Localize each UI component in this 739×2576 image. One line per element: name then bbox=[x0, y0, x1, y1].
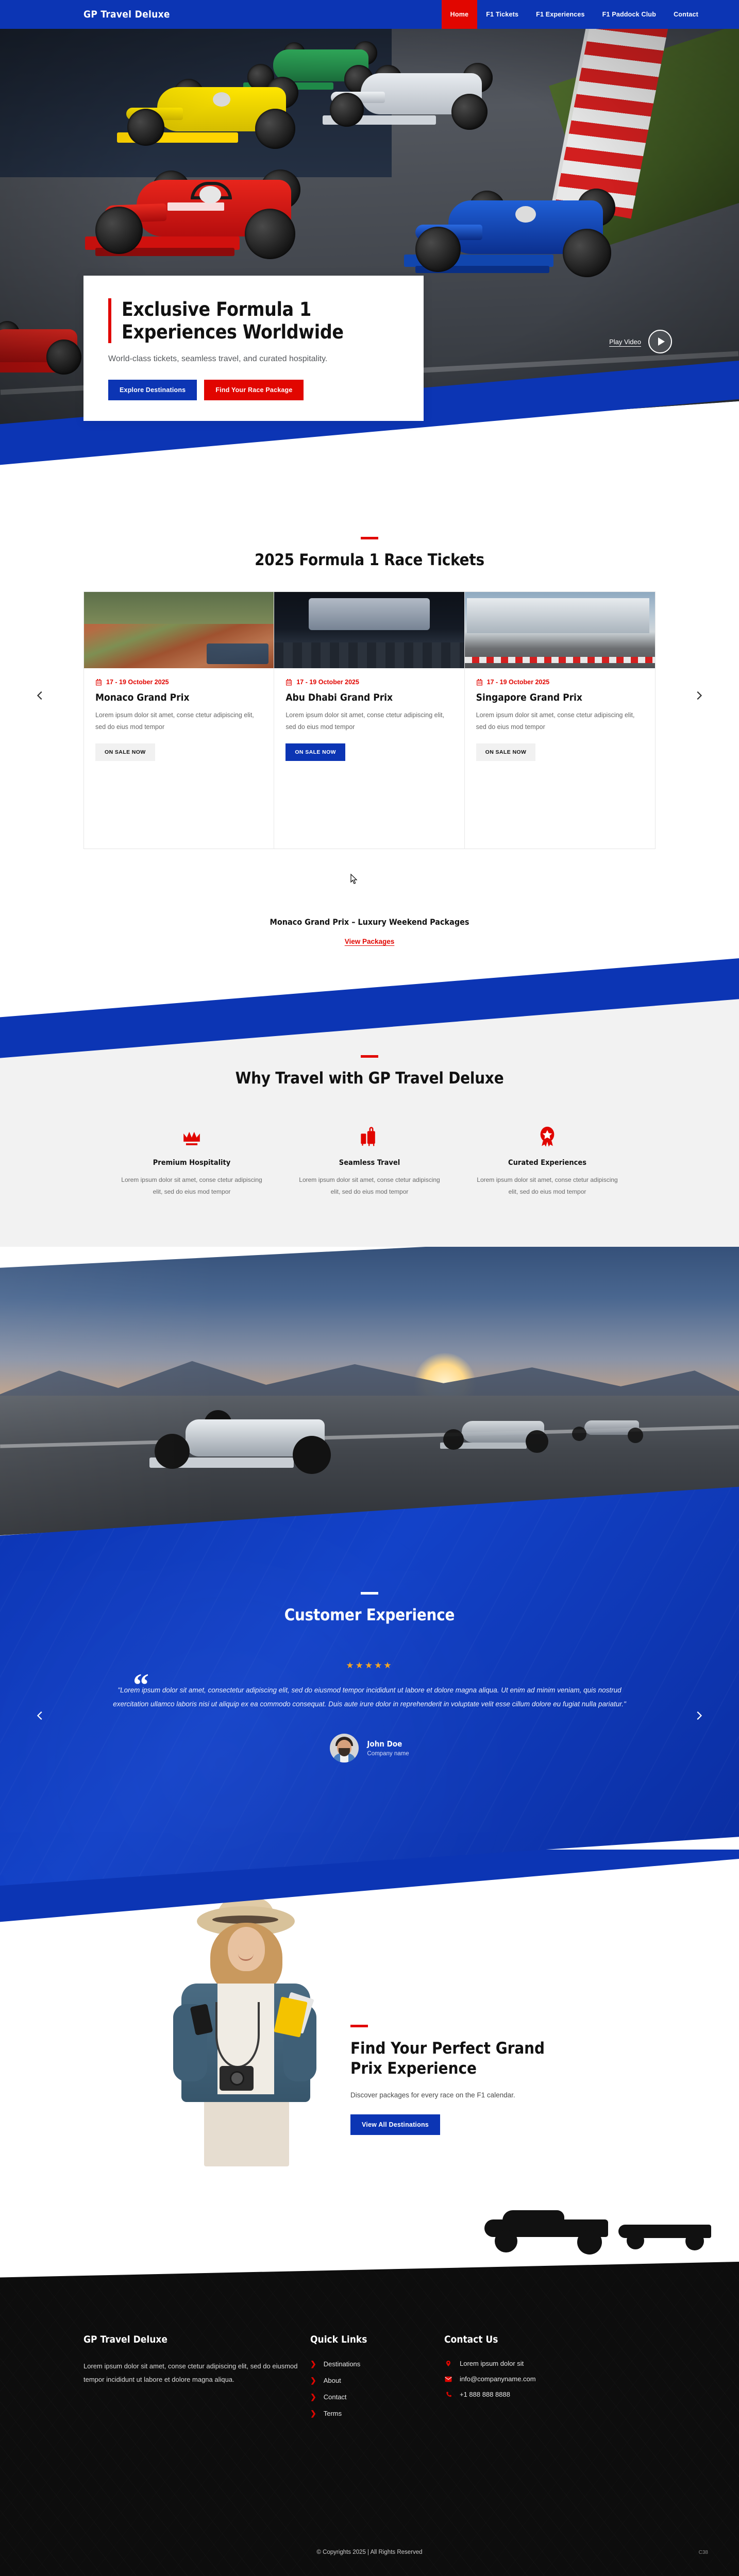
card-image-abu-dhabi bbox=[274, 592, 464, 668]
find-title-line2: Prix Experience bbox=[350, 2059, 477, 2078]
footer-contact-address: Lorem ipsum dolor sit bbox=[444, 2360, 650, 2367]
feature-description: Lorem ipsum dolor sit amet, conse ctetur… bbox=[295, 1174, 444, 1198]
packages-headline: Monaco Grand Prix – Luxury Weekend Packa… bbox=[0, 917, 739, 927]
chevron-right-icon: ❯ bbox=[310, 2393, 316, 2401]
play-video-label: Play Video bbox=[609, 338, 641, 346]
on-sale-now-button[interactable]: ON SALE NOW bbox=[95, 743, 155, 761]
tickets-section-title: 2025 Formula 1 Race Tickets bbox=[0, 551, 739, 569]
find-description: Discover packages for every race on the … bbox=[350, 2089, 598, 2102]
feature-description: Lorem ipsum dolor sit amet, conse ctetur… bbox=[473, 1174, 622, 1198]
calendar-icon bbox=[285, 679, 292, 686]
footer-about-column: GP Travel Deluxe Lorem ipsum dolor sit a… bbox=[83, 2334, 310, 2426]
section-divider-dash bbox=[361, 1055, 378, 1058]
author-name: John Doe bbox=[367, 1739, 409, 1749]
find-section-title: Find Your Perfect Grand Prix Experience bbox=[350, 2039, 598, 2079]
calendar-icon bbox=[476, 679, 483, 686]
calendar-icon bbox=[95, 679, 102, 686]
testimonial-section-title: Customer Experience bbox=[0, 1606, 739, 1624]
play-triangle-icon bbox=[648, 330, 672, 353]
footer-contact-phone[interactable]: +1 888 888 8888 bbox=[444, 2391, 650, 2398]
card-body: 17 - 19 October 2025 Singapore Grand Pri… bbox=[465, 668, 655, 773]
card-description: Lorem ipsum dolor sit amet, conse ctetur… bbox=[95, 709, 262, 733]
testimonial-text: "Lorem ipsum dolor sit amet, consectetur… bbox=[112, 1683, 627, 1711]
race-card[interactable]: 17 - 19 October 2025 Monaco Grand Prix L… bbox=[84, 592, 274, 849]
page-root: GP Travel Deluxe Home F1 Tickets F1 Expe… bbox=[0, 0, 739, 2576]
section-divider-dash bbox=[361, 537, 378, 539]
site-footer: GP Travel Deluxe Lorem ipsum dolor sit a… bbox=[0, 2262, 739, 2576]
chevron-right-icon bbox=[693, 690, 704, 701]
author-role: Company name bbox=[367, 1751, 409, 1757]
footer-columns: GP Travel Deluxe Lorem ipsum dolor sit a… bbox=[83, 2334, 656, 2426]
section-divider-dash bbox=[350, 2025, 368, 2027]
feature-title: Seamless Travel bbox=[295, 1159, 444, 1167]
motion-blur-overlay bbox=[0, 1231, 739, 1535]
nav-item-f1-tickets[interactable]: F1 Tickets bbox=[477, 0, 527, 29]
race-card[interactable]: 17 - 19 October 2025 Abu Dhabi Grand Pri… bbox=[274, 592, 464, 849]
envelope-icon bbox=[444, 2376, 452, 2382]
luggage-icon bbox=[295, 1120, 444, 1147]
card-title: Abu Dhabi Grand Prix bbox=[285, 692, 452, 703]
card-date-row: 17 - 19 October 2025 bbox=[476, 679, 644, 686]
carousel-prev-button[interactable] bbox=[30, 685, 51, 706]
view-all-destinations-button[interactable]: View All Destinations bbox=[350, 2114, 440, 2135]
chevron-right-icon bbox=[693, 1710, 704, 1721]
footer-link-contact[interactable]: ❯ Contact bbox=[310, 2393, 444, 2401]
footer-contact-text: +1 888 888 8888 bbox=[460, 2391, 510, 2398]
find-race-package-button[interactable]: Find Your Race Package bbox=[204, 380, 304, 400]
feature-item: Curated Experiences Lorem ipsum dolor si… bbox=[459, 1120, 636, 1198]
avatar bbox=[330, 1734, 359, 1762]
footer-code: C38 bbox=[699, 2550, 708, 2555]
race-cards-carousel: 17 - 19 October 2025 Monaco Grand Prix L… bbox=[83, 591, 656, 849]
on-sale-now-button[interactable]: ON SALE NOW bbox=[285, 743, 345, 761]
footer-contact-email[interactable]: info@companyname.com bbox=[444, 2375, 650, 2383]
hero-content-card: Exclusive Formula 1 Experiences Worldwid… bbox=[83, 276, 424, 421]
mouse-cursor bbox=[348, 873, 359, 887]
features-row: Premium Hospitality Lorem ipsum dolor si… bbox=[0, 1120, 739, 1198]
footer-link-label: Contact bbox=[324, 2393, 347, 2401]
rating-stars: ★★★★★ bbox=[0, 1660, 739, 1671]
site-header: GP Travel Deluxe Home F1 Tickets F1 Expe… bbox=[0, 0, 739, 29]
brand-logo[interactable]: GP Travel Deluxe bbox=[83, 9, 170, 20]
award-badge-icon bbox=[473, 1120, 622, 1147]
card-image-monaco bbox=[84, 592, 274, 668]
hero-title: Exclusive Formula 1 Experiences Worldwid… bbox=[108, 298, 399, 343]
card-date-row: 17 - 19 October 2025 bbox=[285, 679, 452, 686]
play-video-button[interactable]: Play Video bbox=[609, 330, 672, 353]
explore-destinations-button[interactable]: Explore Destinations bbox=[108, 380, 197, 400]
card-body: 17 - 19 October 2025 Monaco Grand Prix L… bbox=[84, 668, 274, 773]
carousel-next-button[interactable] bbox=[688, 685, 709, 706]
quote-mark-icon: “ bbox=[133, 1669, 149, 1701]
nav-item-contact[interactable]: Contact bbox=[665, 0, 707, 29]
main-navigation: Home F1 Tickets F1 Experiences F1 Paddoc… bbox=[442, 0, 707, 29]
hero-button-group: Explore Destinations Find Your Race Pack… bbox=[108, 380, 399, 400]
hero-title-line1: Exclusive Formula 1 bbox=[122, 298, 311, 320]
feature-title: Curated Experiences bbox=[473, 1159, 622, 1167]
chevron-right-icon: ❯ bbox=[310, 2409, 316, 2418]
nav-item-f1-paddock-club[interactable]: F1 Paddock Club bbox=[594, 0, 665, 29]
race-card[interactable]: 17 - 19 October 2025 Singapore Grand Pri… bbox=[465, 592, 655, 849]
feature-item: Premium Hospitality Lorem ipsum dolor si… bbox=[103, 1120, 281, 1198]
sunset-race-image bbox=[0, 1231, 739, 1535]
hero-subtitle: World-class tickets, seamless travel, an… bbox=[108, 352, 399, 366]
footer-link-label: Destinations bbox=[324, 2360, 361, 2368]
feature-title: Premium Hospitality bbox=[117, 1159, 266, 1167]
map-pin-icon bbox=[444, 2360, 452, 2367]
section-divider-dash bbox=[361, 1592, 378, 1595]
footer-contact-column: Contact Us Lorem ipsum dolor sit info@co… bbox=[444, 2334, 650, 2426]
footer-link-label: About bbox=[324, 2377, 341, 2384]
footer-link-about[interactable]: ❯ About bbox=[310, 2376, 444, 2385]
footer-contact-text: Lorem ipsum dolor sit bbox=[460, 2360, 524, 2367]
find-text-block: Find Your Perfect Grand Prix Experience … bbox=[350, 2025, 598, 2135]
testimonial-prev-button[interactable] bbox=[30, 1705, 51, 1726]
card-description: Lorem ipsum dolor sit amet, conse ctetur… bbox=[476, 709, 644, 733]
chevron-right-icon: ❯ bbox=[310, 2360, 316, 2368]
phone-icon bbox=[444, 2391, 452, 2398]
footer-quick-links-title: Quick Links bbox=[310, 2334, 444, 2345]
footer-brand: GP Travel Deluxe bbox=[83, 2334, 310, 2345]
nav-item-home[interactable]: Home bbox=[442, 0, 478, 29]
chevron-left-icon bbox=[35, 1710, 46, 1721]
on-sale-now-button[interactable]: ON SALE NOW bbox=[476, 743, 536, 761]
card-title: Monaco Grand Prix bbox=[95, 692, 262, 703]
testimonial-next-button[interactable] bbox=[688, 1705, 709, 1726]
footer-contact-title: Contact Us bbox=[444, 2334, 650, 2345]
traveler-photo bbox=[155, 1906, 330, 2164]
hero-title-line2: Experiences Worldwide bbox=[122, 321, 344, 343]
feature-description: Lorem ipsum dolor sit amet, conse ctetur… bbox=[117, 1174, 266, 1198]
testimonial-section: Customer Experience “ ★★★★★ "Lorem ipsum… bbox=[0, 1592, 739, 1762]
card-date-text: 17 - 19 October 2025 bbox=[106, 679, 169, 686]
chevron-left-icon bbox=[35, 690, 46, 701]
footer-contact-text: info@companyname.com bbox=[460, 2375, 536, 2383]
card-title: Singapore Grand Prix bbox=[476, 692, 644, 703]
card-date-row: 17 - 19 October 2025 bbox=[95, 679, 262, 686]
copyright-text: © Copyrights 2025 | All Rights Reserved bbox=[0, 2549, 739, 2555]
card-date-text: 17 - 19 October 2025 bbox=[487, 679, 550, 686]
card-description: Lorem ipsum dolor sit amet, conse ctetur… bbox=[285, 709, 452, 733]
footer-quick-links-column: Quick Links ❯ Destinations ❯ About ❯ Con… bbox=[310, 2334, 444, 2426]
race-tickets-section: 2025 Formula 1 Race Tickets 17 - 19 Octo… bbox=[0, 479, 739, 953]
footer-link-label: Terms bbox=[324, 2410, 342, 2417]
card-date-text: 17 - 19 October 2025 bbox=[296, 679, 359, 686]
find-title-line1: Find Your Perfect Grand bbox=[350, 2039, 545, 2058]
feature-item: Seamless Travel Lorem ipsum dolor sit am… bbox=[281, 1120, 459, 1198]
view-packages-link[interactable]: View Packages bbox=[0, 938, 739, 945]
footer-about-text: Lorem ipsum dolor sit amet, conse ctetur… bbox=[83, 2360, 310, 2386]
footer-link-terms[interactable]: ❯ Terms bbox=[310, 2409, 444, 2418]
footer-link-destinations[interactable]: ❯ Destinations bbox=[310, 2360, 444, 2368]
nav-item-f1-experiences[interactable]: F1 Experiences bbox=[527, 0, 594, 29]
card-body: 17 - 19 October 2025 Abu Dhabi Grand Pri… bbox=[274, 668, 464, 773]
card-image-singapore bbox=[465, 592, 655, 668]
why-section-title: Why Travel with GP Travel Deluxe bbox=[0, 1069, 739, 1088]
testimonial-author: John Doe Company name bbox=[0, 1734, 739, 1762]
why-travel-section: Why Travel with GP Travel Deluxe Premium… bbox=[0, 1020, 739, 1198]
chevron-right-icon: ❯ bbox=[310, 2376, 316, 2385]
crown-icon bbox=[117, 1120, 266, 1147]
author-info: John Doe Company name bbox=[367, 1739, 409, 1757]
